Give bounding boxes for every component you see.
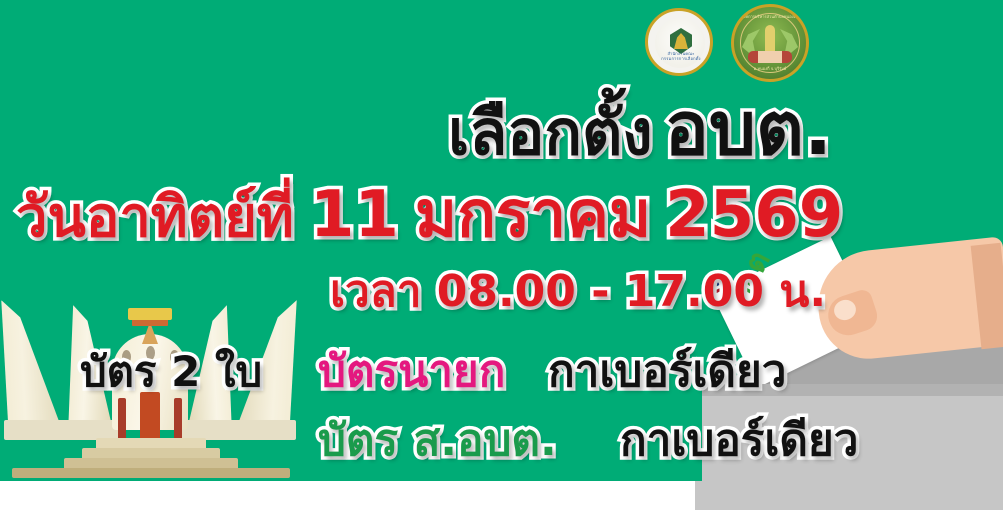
emblem-right-caption-top: องค์การบริหารส่วนตำบลหนองหิน: [734, 13, 806, 20]
date-day-number: 11: [310, 178, 399, 252]
ballot-row-member-label: บัตร ส.อบต.: [318, 419, 557, 463]
local-administration-emblem-icon: องค์การบริหารส่วนตำบลหนองหิน อ.หนองกี่ จ…: [731, 4, 809, 82]
election-poster: กกต สำนักงานคณะกรรมการการเลือกตั้ง องค์ก…: [0, 0, 1003, 510]
date-year: 2569: [665, 178, 843, 252]
monument-door-right: [174, 398, 182, 440]
monument-door-left: [118, 398, 126, 440]
monument-step-4: [12, 468, 290, 478]
ballot-row-mayor-action: กาเบอร์เดียว: [548, 350, 786, 394]
ballot-row-mayor-label: บัตรนายก: [318, 350, 505, 394]
date-day-label: วันอาทิตย์ที่: [16, 185, 294, 250]
headline: เลือกตั้งอบต.: [448, 92, 832, 166]
headline-main: อบต.: [665, 86, 833, 172]
monument-base-outer-right: [222, 420, 296, 440]
emblem-handshake: [752, 51, 788, 63]
date-line: วันอาทิตย์ที่11มกราคม2569: [16, 183, 843, 247]
monument-door-center: [140, 392, 160, 440]
emblem-left-caption: สำนักงานคณะกรรมการการเลือกตั้ง: [659, 51, 703, 61]
ect-thailand-emblem-icon: สำนักงานคณะกรรมการการเลือกตั้ง: [645, 8, 713, 76]
date-month: มกราคม: [415, 178, 651, 252]
monument-wing-outer-left: [0, 294, 59, 434]
headline-prefix: เลือกตั้ง: [448, 96, 653, 169]
emblem-right-caption-bottom: อ.หนองกี่ จ.บุรีรัมย์: [734, 65, 806, 72]
emblem-group: สำนักงานคณะกรรมการการเลือกตั้ง องค์การบร…: [645, 4, 815, 80]
ballot-count-label: บัตร 2 ใบ: [80, 351, 262, 393]
monument-constitution-plaque: [128, 308, 172, 320]
monument-base-inner-left: [60, 420, 118, 440]
ballot-row-member-action: กาเบอร์เดียว: [620, 419, 858, 463]
time-line: เวลา 08.00 - 17.00 น.: [330, 270, 826, 314]
bottom-grey-block: [695, 481, 1003, 510]
